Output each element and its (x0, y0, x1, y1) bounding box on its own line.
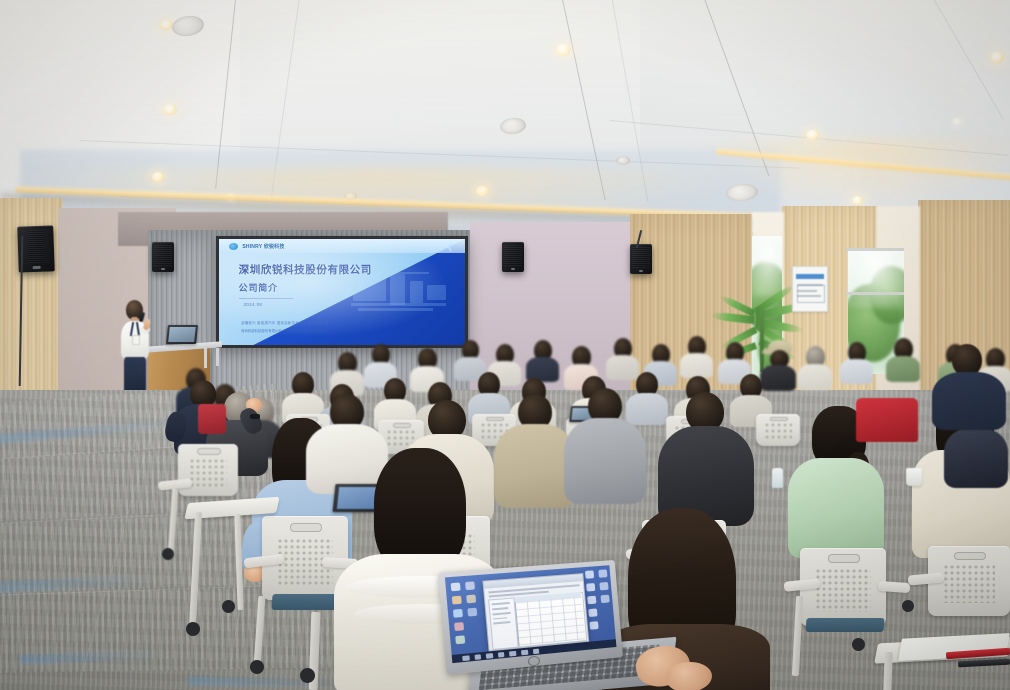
wall-speaker-stage-right (502, 242, 524, 272)
red-jacket-on-chair (856, 398, 918, 442)
water-bottle-2 (772, 468, 783, 488)
slide-date: 2024.08 (244, 302, 263, 307)
slide-title: 深圳欣锐科技股份有限公司 (239, 262, 372, 277)
slide-fine-line-1: 战略新兴 新能源汽车 国家高新技术企业 国家专精特新 (241, 320, 330, 325)
conference-room-photo: SHINRY 欣锐科技 ❮ 深圳欣锐科技股份有限公司 公司简介 2024.08 … (0, 0, 1010, 690)
wall-speaker-stage-left (152, 242, 174, 272)
slide-corner-mark: ❮ (447, 243, 453, 251)
slide-logo-icon (229, 243, 238, 250)
slide-rule (239, 298, 293, 299)
laptop-app-window[interactable] (482, 573, 589, 651)
slide-fine-line-2: 深圳欣锐科技股份有限公司 车载电源系统解决方案提供商 (241, 328, 327, 333)
attendee-navy-far-right (926, 344, 1010, 444)
foreground-laptop-screen[interactable] (445, 565, 617, 663)
attendee-grey-tee (556, 388, 652, 528)
foreground-laptop-lid[interactable] (438, 560, 623, 675)
slide-logo-text: SHINRY 欣锐科技 (242, 243, 284, 250)
wall-speaker-right (630, 244, 652, 274)
presentation-slide: SHINRY 欣锐科技 ❮ 深圳欣锐科技股份有限公司 公司简介 2024.08 … (219, 239, 465, 345)
wall-notice (792, 266, 828, 312)
paper-cup (906, 468, 922, 486)
podium-laptop (166, 325, 198, 344)
hp-logo-icon (528, 656, 541, 667)
slide-subtitle: 公司简介 (239, 281, 278, 294)
